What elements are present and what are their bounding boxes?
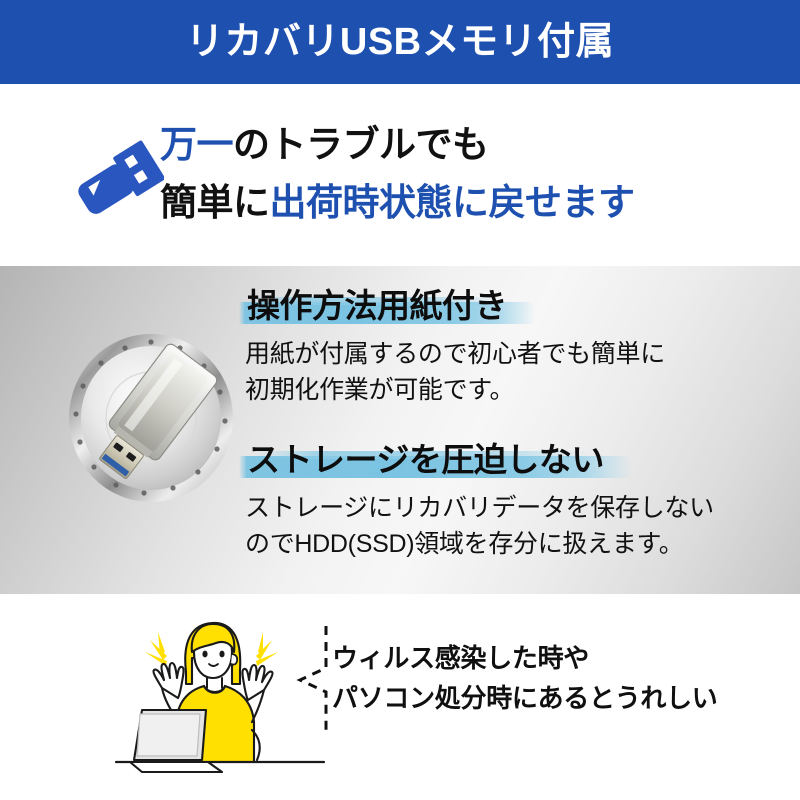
- bottom-copy: ウィルス感染した時や パソコン処分時にあるとうれしい: [332, 638, 792, 718]
- feature-list: 操作方法用紙付き 用紙が付属するので初心者でも簡単に 初期化作業が可能です。 ス…: [245, 284, 785, 562]
- header-banner: リカバリUSBメモリ付属: [0, 0, 800, 84]
- lead-line-1: 万一のトラブルでも: [160, 116, 780, 174]
- lead-line-1-emphasis: 万一: [160, 124, 233, 165]
- usb-flash-drive-icon: [72, 136, 164, 220]
- feature-heading-1: 操作方法用紙付き: [245, 284, 509, 328]
- bottom-section: ウィルス感染した時や パソコン処分時にあるとうれしい: [0, 594, 800, 800]
- feature-body-1-line-1: 用紙が付属するので初心者でも簡単に: [245, 336, 785, 372]
- feature-body-2-line-2: のでHDD(SSD)領域を存分に扱えます。: [245, 526, 785, 562]
- callout-bracket: [292, 624, 336, 736]
- feature-body-1-line-2: 初期化作業が可能です。: [245, 372, 785, 408]
- bottom-line-1: ウィルス感染した時や: [332, 638, 792, 678]
- feature-heading-2: ストレージを圧迫しない: [245, 438, 606, 482]
- page-title: リカバリUSBメモリ付属: [186, 23, 614, 61]
- lead-copy: 万一のトラブルでも 簡単に出荷時状態に戻せます: [160, 116, 780, 232]
- lead-line-2-prefix: 簡単に: [160, 182, 270, 223]
- lead-line-2: 簡単に出荷時状態に戻せます: [160, 174, 780, 232]
- lead-line-1-rest: のトラブルでも: [233, 124, 489, 165]
- feature-item-1: 操作方法用紙付き 用紙が付属するので初心者でも簡単に 初期化作業が可能です。: [245, 284, 785, 408]
- feature-section: 操作方法用紙付き 用紙が付属するので初心者でも簡単に 初期化作業が可能です。 ス…: [0, 266, 800, 594]
- lead-section: 万一のトラブルでも 簡単に出荷時状態に戻せます: [0, 84, 800, 266]
- feature-body-2-line-1: ストレージにリカバリデータを保存しない: [245, 490, 785, 526]
- usb-memory-stick-photo: [56, 322, 246, 512]
- bottom-line-2: パソコン処分時にあるとうれしい: [332, 678, 792, 718]
- lead-line-2-emphasis: 出荷時状態に戻せます: [270, 182, 635, 223]
- feature-item-2: ストレージを圧迫しない ストレージにリカバリデータを保存しない のでHDD(SS…: [245, 438, 785, 562]
